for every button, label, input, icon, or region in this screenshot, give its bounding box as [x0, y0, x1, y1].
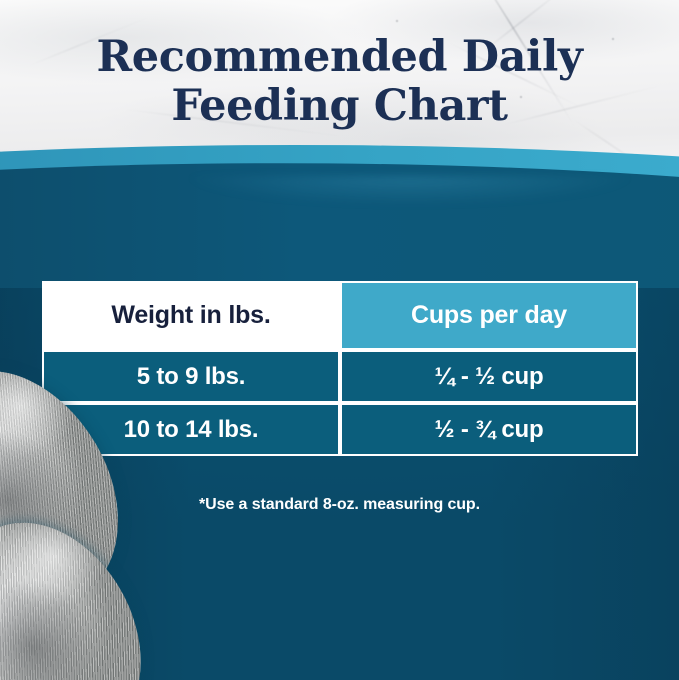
marble-speck: [396, 20, 398, 22]
wave-sheen: [150, 176, 670, 216]
page-title-line-1: Recommended Daily: [0, 33, 679, 82]
page-title: Recommended Daily Feeding Chart: [0, 33, 679, 131]
feeding-chart-poster: Recommended Daily Feeding Chart Weight i…: [0, 0, 679, 680]
column-header-weight: Weight in lbs.: [42, 281, 340, 350]
cell-cups-row-1: ¼ - ½ cup: [340, 350, 638, 403]
table-row: 5 to 9 lbs. ¼ - ½ cup: [42, 350, 638, 403]
table-header-row: Weight in lbs. Cups per day: [42, 281, 638, 350]
column-header-cups: Cups per day: [340, 281, 638, 350]
cell-weight-row-1: 5 to 9 lbs.: [42, 350, 340, 403]
feeding-table: Weight in lbs. Cups per day 5 to 9 lbs. …: [42, 281, 638, 456]
table-row: 10 to 14 lbs. ½ - ¾ cup: [42, 403, 638, 456]
cell-cups-row-2: ½ - ¾ cup: [340, 403, 638, 456]
page-title-line-2: Feeding Chart: [0, 82, 679, 131]
